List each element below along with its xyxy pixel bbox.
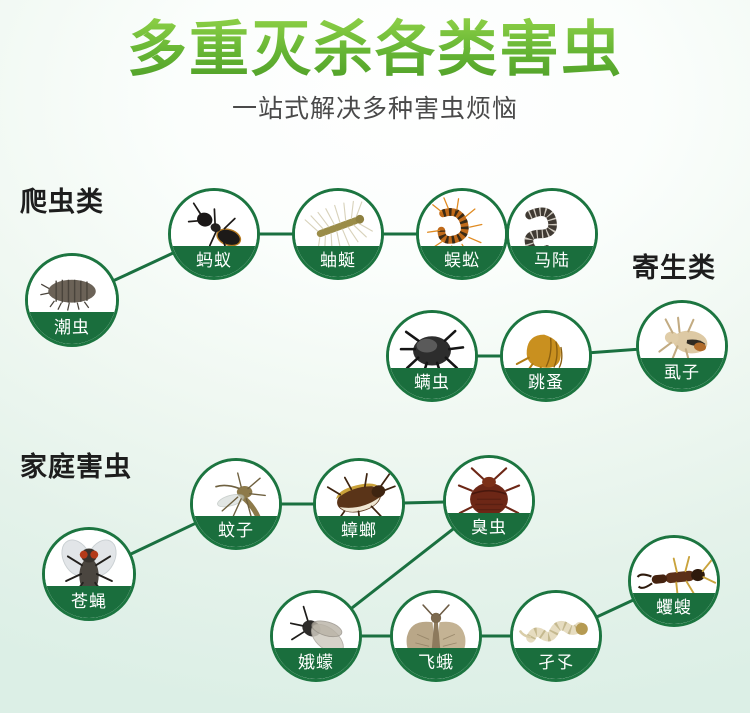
section-heading-crawling: 爬虫类 <box>20 180 104 219</box>
pest-infographic: 多重灭杀各类害虫 一站式解决多种害虫烦恼 爬虫类寄生类家庭害虫 潮虫 <box>0 0 750 713</box>
link-cockroach-to-bedbug <box>403 502 445 503</box>
pest-node-earwig[interactable]: 蠼螋 <box>628 535 720 627</box>
pest-node-mosquito[interactable]: 蚊子 <box>190 458 282 550</box>
pest-node-ant[interactable]: 蚂蚁 <box>168 188 260 280</box>
pest-label-drain-fly: 娥蠓 <box>273 648 359 679</box>
pest-label-mosquito: 蚊子 <box>193 516 279 547</box>
pest-label-moth: 飞蛾 <box>393 648 479 679</box>
link-flea-to-louse <box>590 349 638 353</box>
section-heading-parasitic: 寄生类 <box>632 246 716 285</box>
pest-label-millipede: 马陆 <box>509 246 595 277</box>
pest-label-flea: 跳蚤 <box>503 368 589 399</box>
section-heading-household: 家庭害虫 <box>20 445 132 484</box>
pest-label-centipede: 蜈蚣 <box>419 246 505 277</box>
pest-node-millipede[interactable]: 马陆 <box>506 188 598 280</box>
pest-label-ant: 蚂蚁 <box>171 246 257 277</box>
pest-node-drain-fly[interactable]: 娥蠓 <box>270 590 362 682</box>
pest-node-housefly[interactable]: 苍蝇 <box>42 527 136 621</box>
pest-node-flea[interactable]: 跳蚤 <box>500 310 592 402</box>
pest-node-pillbug[interactable]: 潮虫 <box>25 253 119 347</box>
pest-label-louse: 虱子 <box>639 358 725 389</box>
pest-node-moth[interactable]: 飞蛾 <box>390 590 482 682</box>
pest-label-cockroach: 蟑螂 <box>316 516 402 547</box>
poster-header: 多重灭杀各类害虫 一站式解决多种害虫烦恼 <box>0 0 750 125</box>
pest-node-house-centipede[interactable]: 蚰蜒 <box>292 188 384 280</box>
pest-label-house-centipede: 蚰蜒 <box>295 246 381 277</box>
pest-label-bedbug: 臭虫 <box>446 513 532 544</box>
pest-node-larva[interactable]: 孑孓 <box>510 590 602 682</box>
pest-label-earwig: 蠼螋 <box>631 593 717 624</box>
link-pillbug-to-ant <box>113 253 174 281</box>
pest-node-centipede[interactable]: 蜈蚣 <box>416 188 508 280</box>
pest-node-louse[interactable]: 虱子 <box>636 300 728 392</box>
pest-node-bedbug[interactable]: 臭虫 <box>443 455 535 547</box>
link-larva-to-earwig <box>596 600 634 618</box>
pest-label-housefly: 苍蝇 <box>45 586 133 618</box>
page-title: 多重灭杀各类害虫 <box>0 0 750 83</box>
pest-label-larva: 孑孓 <box>513 648 599 679</box>
pest-label-pillbug: 潮虫 <box>28 312 116 344</box>
pest-node-cockroach[interactable]: 蟑螂 <box>313 458 405 550</box>
link-housefly-to-mosquito <box>130 523 197 555</box>
pest-node-mite[interactable]: 螨虫 <box>386 310 478 402</box>
pest-label-mite: 螨虫 <box>389 368 475 399</box>
page-subtitle: 一站式解决多种害虫烦恼 <box>0 89 750 125</box>
